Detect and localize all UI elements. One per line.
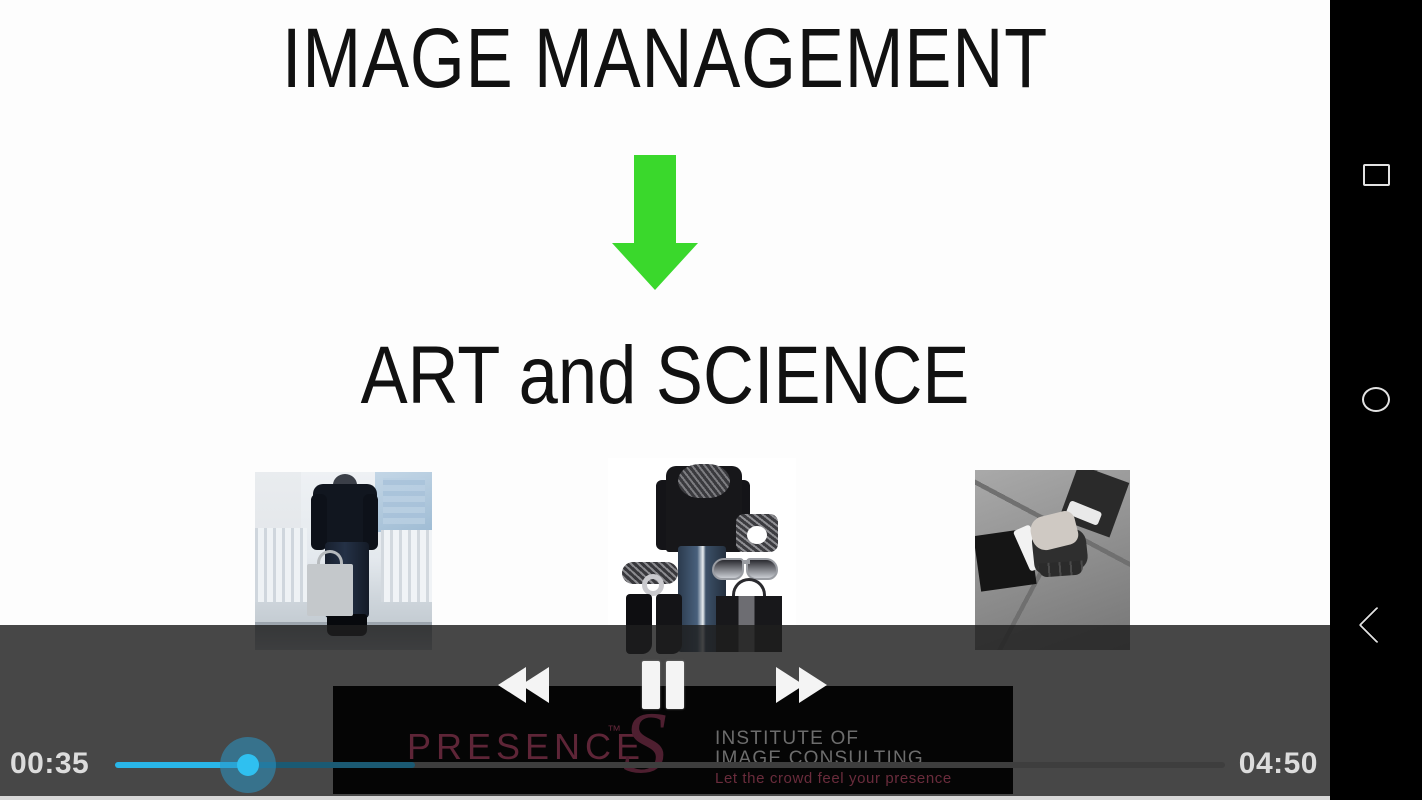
square-icon [1363, 164, 1390, 186]
glass-facade [383, 478, 425, 524]
circle-icon [1362, 387, 1390, 412]
page-title: IMAGE MANAGEMENT [106, 16, 1223, 100]
pause-icon [642, 661, 660, 709]
logo-tagline: Let the crowd feel your presence [715, 770, 952, 787]
bracelet-opening [747, 526, 767, 544]
current-time-label: 00:35 [10, 747, 89, 781]
bottom-divider [0, 796, 1330, 800]
pause-button[interactable] [638, 661, 690, 709]
pause-icon-second [666, 661, 684, 709]
belt-buckle [642, 574, 664, 596]
sunglasses-lens-left [712, 558, 744, 580]
sunglasses-bridge [742, 560, 750, 564]
nav-recents-button[interactable] [1353, 152, 1399, 198]
railing-right [381, 530, 432, 602]
rewind-button[interactable] [498, 663, 554, 707]
handshake-photo [975, 470, 1130, 650]
logo-institute-line1: INSTITUTE OF [715, 728, 859, 750]
woman-arm-left [311, 494, 327, 550]
logo-monogram-icon: S [623, 700, 667, 788]
arrow-head [612, 243, 698, 290]
tote-bag [307, 564, 353, 616]
triangle-back-icon [1359, 607, 1396, 644]
fast-forward-button[interactable] [774, 663, 830, 707]
arrow-shaft [634, 155, 676, 248]
business-woman-with-tote-photo [255, 472, 432, 650]
page-subtitle: ART and SCIENCE [93, 335, 1237, 417]
nav-home-button[interactable] [1353, 377, 1399, 423]
sunglasses-lens-right [746, 558, 778, 580]
cowl-scarf [678, 464, 730, 498]
trademark-symbol: ™ [607, 722, 621, 738]
railing-left [255, 528, 307, 602]
nav-back-button[interactable] [1353, 602, 1399, 648]
total-time-label: 04:50 [1239, 747, 1318, 781]
video-surface[interactable]: IMAGE MANAGEMENT ART and SCIENCE [0, 0, 1330, 800]
fast-forward-icon-second [799, 667, 827, 703]
seek-bar[interactable] [115, 762, 1225, 768]
android-navigation-bar [1330, 0, 1422, 800]
android-video-player-screen: IMAGE MANAGEMENT ART and SCIENCE [0, 0, 1422, 800]
down-arrow-icon [612, 155, 698, 290]
